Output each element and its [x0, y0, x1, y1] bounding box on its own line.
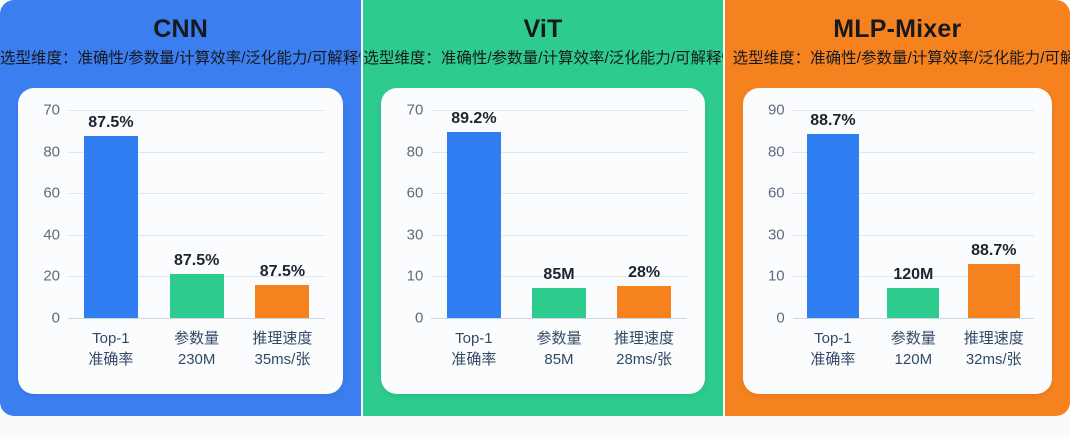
- bar[interactable]: [968, 264, 1020, 318]
- panel-row: CNN 选型维度：准确性/参数量/计算效率/泛化能力/可解释性 70806040…: [0, 0, 1070, 416]
- bar-group: 88.7%120M88.7%: [793, 110, 1034, 318]
- y-axis-tick: 30: [768, 226, 785, 243]
- x-axis-label: 参数量85M: [516, 328, 601, 370]
- y-axis-tick: 60: [43, 185, 60, 202]
- plot-area: 9080603010088.7%120M88.7%: [793, 110, 1034, 318]
- bar-value-label: 120M: [873, 266, 953, 284]
- panel-subtitle: 选型维度：准确性/参数量/计算效率/泛化能力/可解释性: [0, 49, 361, 69]
- panel-subtitle: 选型维度：准确性/参数量/计算效率/泛化能力/可解释性: [733, 49, 1070, 69]
- y-axis-tick: 60: [407, 185, 424, 202]
- bar-value-label: 87.5%: [154, 252, 240, 270]
- x-axis-label: Top-1准确率: [793, 328, 873, 370]
- x-axis-labels: Top-1准确率参数量230M推理速度35ms/张: [68, 328, 325, 370]
- x-axis-label: 参数量120M: [873, 328, 953, 370]
- panel-vit[interactable]: ViT 选型维度：准确性/参数量/计算效率/泛化能力/可解释性 70806030…: [363, 0, 722, 416]
- y-axis-tick: 90: [768, 102, 785, 119]
- gridline: 0: [431, 318, 686, 319]
- y-axis-tick: 10: [768, 268, 785, 285]
- gridline: 0: [793, 318, 1034, 319]
- x-axis-label: 推理速度28ms/张: [602, 328, 687, 370]
- bar-value-label: 87.5%: [68, 114, 154, 132]
- panel-title: ViT: [363, 14, 722, 44]
- x-axis-label: 推理速度32ms/张: [954, 328, 1034, 370]
- bar[interactable]: [807, 134, 859, 318]
- x-axis-label: 推理速度35ms/张: [240, 328, 326, 370]
- bar-chart: 7080603010089.2%85M28% Top-1准确率参数量85M推理速…: [381, 88, 704, 394]
- bar[interactable]: [255, 285, 309, 318]
- bar[interactable]: [617, 286, 671, 318]
- bar-group: 89.2%85M28%: [431, 110, 686, 318]
- x-axis-labels: Top-1准确率参数量120M推理速度32ms/张: [793, 328, 1034, 370]
- y-axis-tick: 30: [407, 226, 424, 243]
- y-axis-tick: 80: [768, 143, 785, 160]
- x-axis-label: Top-1准确率: [431, 328, 516, 370]
- bar[interactable]: [532, 288, 586, 318]
- bar-item[interactable]: 28%: [602, 110, 687, 318]
- y-axis-tick: 70: [43, 102, 60, 119]
- bar-value-label: 87.5%: [240, 263, 326, 281]
- x-axis-label: Top-1准确率: [68, 328, 154, 370]
- chart-card: 7080604020087.5%87.5%87.5% Top-1准确率参数量23…: [18, 88, 343, 394]
- plot-area: 7080604020087.5%87.5%87.5%: [68, 110, 325, 318]
- panel-title: CNN: [0, 14, 361, 44]
- bar[interactable]: [887, 288, 939, 318]
- panel-mlp-mixer[interactable]: MLP-Mixer 选型维度：准确性/参数量/计算效率/泛化能力/可解释性 90…: [725, 0, 1070, 416]
- panel-cnn[interactable]: CNN 选型维度：准确性/参数量/计算效率/泛化能力/可解释性 70806040…: [0, 0, 361, 416]
- y-axis-tick: 0: [776, 310, 784, 327]
- bar-item[interactable]: 87.5%: [240, 110, 326, 318]
- bar[interactable]: [84, 136, 138, 318]
- y-axis-tick: 60: [768, 185, 785, 202]
- bar[interactable]: [447, 132, 501, 318]
- bar-item[interactable]: 89.2%: [431, 110, 516, 318]
- gridline: 0: [68, 318, 325, 319]
- y-axis-tick: 40: [43, 226, 60, 243]
- bar-value-label: 88.7%: [793, 112, 873, 130]
- y-axis-tick: 10: [407, 268, 424, 285]
- panel-subtitle: 选型维度：准确性/参数量/计算效率/泛化能力/可解释性: [363, 49, 722, 69]
- bar-value-label: 85M: [516, 266, 601, 284]
- chart-card: 9080603010088.7%120M88.7% Top-1准确率参数量120…: [743, 88, 1052, 394]
- bar-item[interactable]: 87.5%: [68, 110, 154, 318]
- bar-chart: 9080603010088.7%120M88.7% Top-1准确率参数量120…: [743, 88, 1052, 394]
- chart-card: 7080603010089.2%85M28% Top-1准确率参数量85M推理速…: [381, 88, 704, 394]
- x-axis-label: 参数量230M: [154, 328, 240, 370]
- y-axis-tick: 80: [407, 143, 424, 160]
- bar-value-label: 28%: [602, 264, 687, 282]
- bar[interactable]: [170, 274, 224, 318]
- plot-area: 7080603010089.2%85M28%: [431, 110, 686, 318]
- y-axis-tick: 0: [52, 310, 60, 327]
- bar-chart: 7080604020087.5%87.5%87.5% Top-1准确率参数量23…: [18, 88, 343, 394]
- bar-item[interactable]: 120M: [873, 110, 953, 318]
- bar-value-label: 89.2%: [431, 110, 516, 128]
- y-axis-tick: 70: [407, 102, 424, 119]
- y-axis-tick: 80: [43, 143, 60, 160]
- bar-value-label: 88.7%: [954, 242, 1034, 260]
- bar-item[interactable]: 85M: [516, 110, 601, 318]
- y-axis-tick: 0: [415, 310, 423, 327]
- bar-item[interactable]: 88.7%: [793, 110, 873, 318]
- x-axis-labels: Top-1准确率参数量85M推理速度28ms/张: [431, 328, 686, 370]
- panel-title: MLP-Mixer: [725, 14, 1070, 44]
- bar-item[interactable]: 87.5%: [154, 110, 240, 318]
- bar-item[interactable]: 88.7%: [954, 110, 1034, 318]
- y-axis-tick: 20: [43, 268, 60, 285]
- bar-group: 87.5%87.5%87.5%: [68, 110, 325, 318]
- model-comparison-infographic: CNN 选型维度：准确性/参数量/计算效率/泛化能力/可解释性 70806040…: [0, 0, 1070, 437]
